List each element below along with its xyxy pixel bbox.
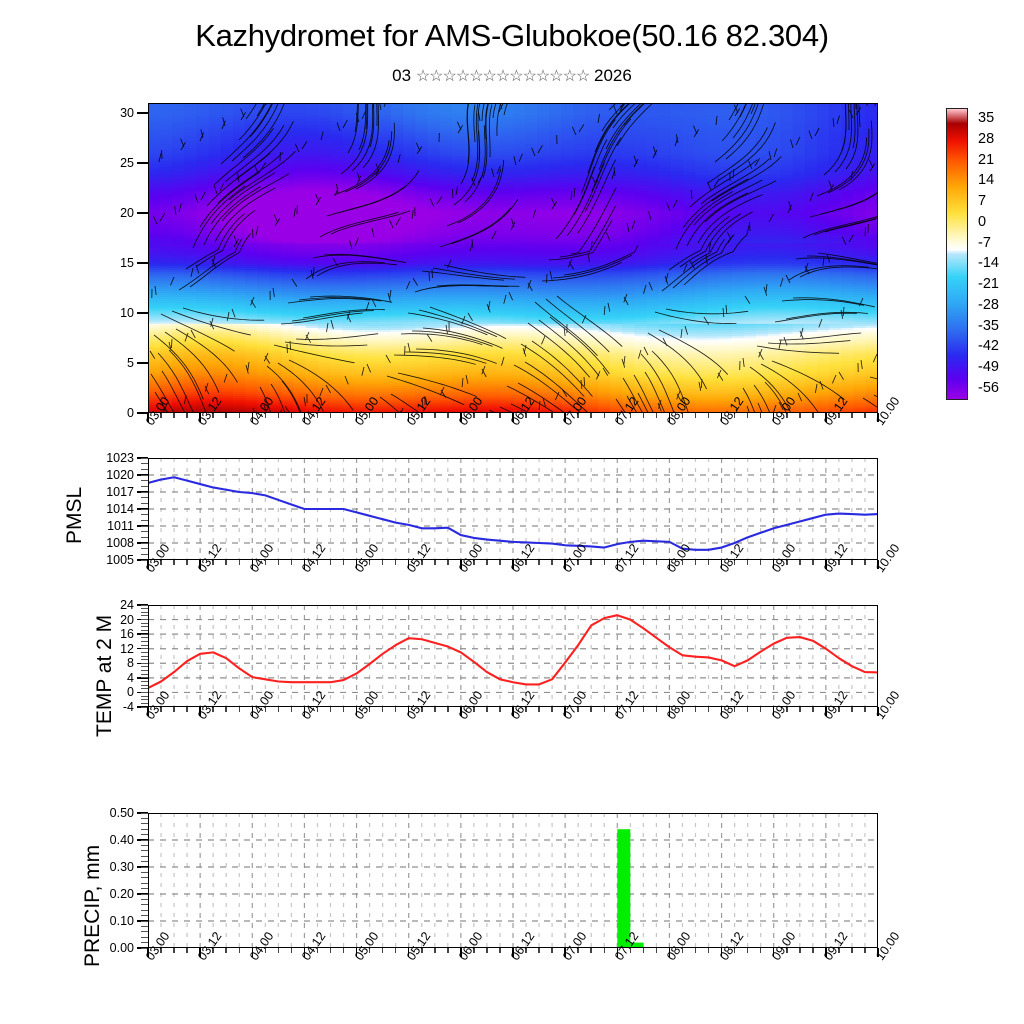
- forecast-meteogram-page: Kazhydromet for AMS-Glubokoe(50.16 82.30…: [0, 0, 1024, 1024]
- subtitle-year: 2026: [594, 66, 632, 85]
- cross-section-panel: [148, 103, 878, 413]
- page-title: Kazhydromet for AMS-Glubokoe(50.16 82.30…: [0, 18, 1024, 54]
- subtitle-month-missing-glyphs: ☆☆☆☆☆☆☆☆☆☆☆☆☆: [416, 68, 589, 85]
- subtitle-day: 03: [392, 66, 411, 85]
- page-subtitle: 03 ☆☆☆☆☆☆☆☆☆☆☆☆☆ 2026: [0, 66, 1024, 86]
